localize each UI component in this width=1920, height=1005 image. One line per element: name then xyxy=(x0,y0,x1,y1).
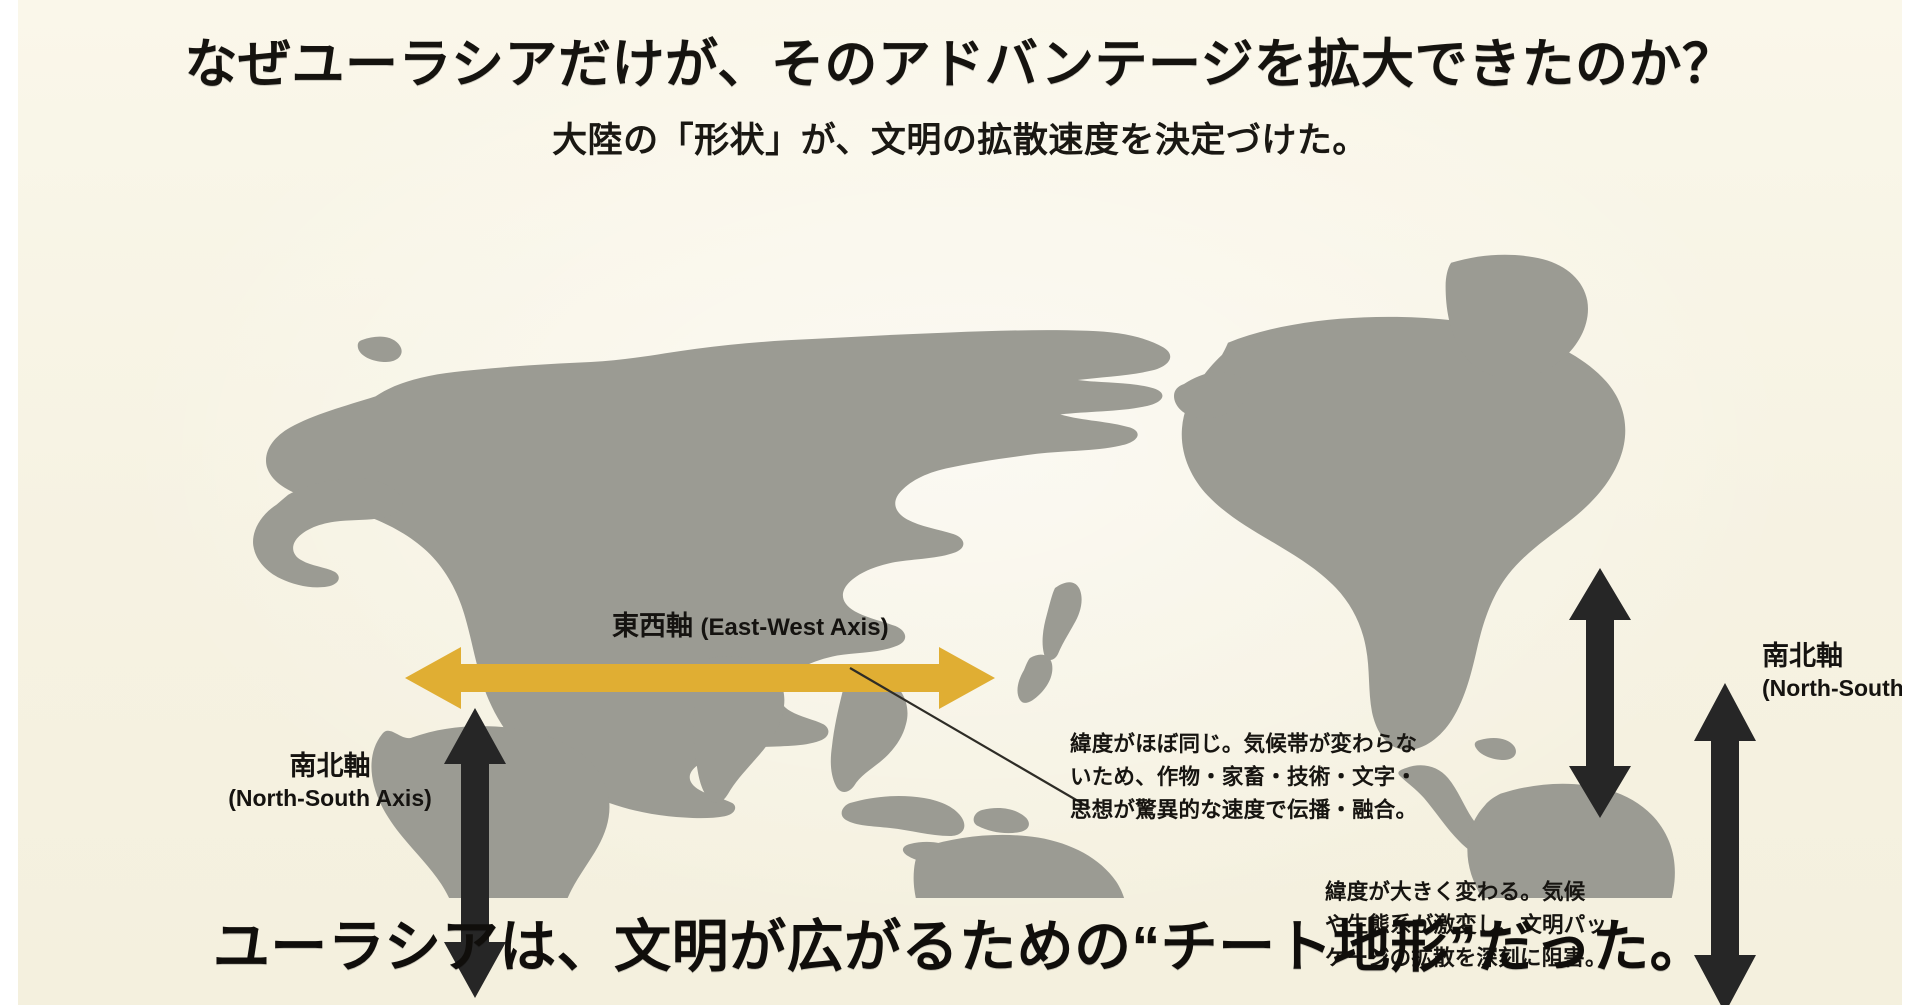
callout-leader-line-icon xyxy=(850,668,1100,818)
eurasia-note-line-2: いため、作物・家畜・技術・文字・ xyxy=(1070,761,1490,794)
world-map-figure: 東西軸 (East-West Axis) 南北軸 (North-South Ax… xyxy=(150,228,1770,898)
right-letterbox-bar xyxy=(1902,0,1920,1005)
eurasia-note-line-1: 緯度がほぼ同じ。気候帯が変わらな xyxy=(1070,728,1490,761)
north-south-axis-label-africa: 南北軸 (North-South Axis) xyxy=(195,750,465,813)
east-west-axis-label: 東西軸 (East-West Axis) xyxy=(612,609,889,645)
double-headed-vertical-arrow-icon xyxy=(1565,568,1635,818)
page-conclusion: ユーラシアは、文明が広がるための“チート地形”だった。 xyxy=(0,912,1920,982)
north-south-axis-label-americas-jp: 南北軸 xyxy=(1762,640,1920,674)
north-south-axis-label-africa-en: (North-South Axis) xyxy=(195,784,465,813)
east-west-axis-label-en: (East-West Axis) xyxy=(701,614,889,641)
eurasia-annotation-note: 緯度がほぼ同じ。気候帯が変わらな いため、作物・家畜・技術・文字・ 思想が驚異的… xyxy=(1070,728,1490,827)
north-south-axis-label-americas-en: (North-South Axis) xyxy=(1762,674,1920,703)
left-letterbox-bar xyxy=(0,0,18,1005)
north-south-axis-label-africa-jp: 南北軸 xyxy=(195,750,465,784)
page-subtitle: 大陸の「形状」が、文明の拡散速度を決定づけた。 xyxy=(0,118,1920,164)
americas-note-line-1: 緯度が大きく変わる。気候 xyxy=(1325,876,1675,909)
eurasia-note-line-3: 思想が驚異的な速度で伝播・融合。 xyxy=(1070,794,1490,827)
east-west-axis-label-jp: 東西軸 xyxy=(612,611,693,641)
north-south-axis-label-americas: 南北軸 (North-South Axis) xyxy=(1762,640,1920,703)
slide-canvas: なぜユーラシアだけが、そのアドバンテージを拡大できたのか？ 大陸の「形状」が、文… xyxy=(0,0,1920,1005)
page-title: なぜユーラシアだけが、そのアドバンテージを拡大できたのか？ xyxy=(0,33,1920,97)
